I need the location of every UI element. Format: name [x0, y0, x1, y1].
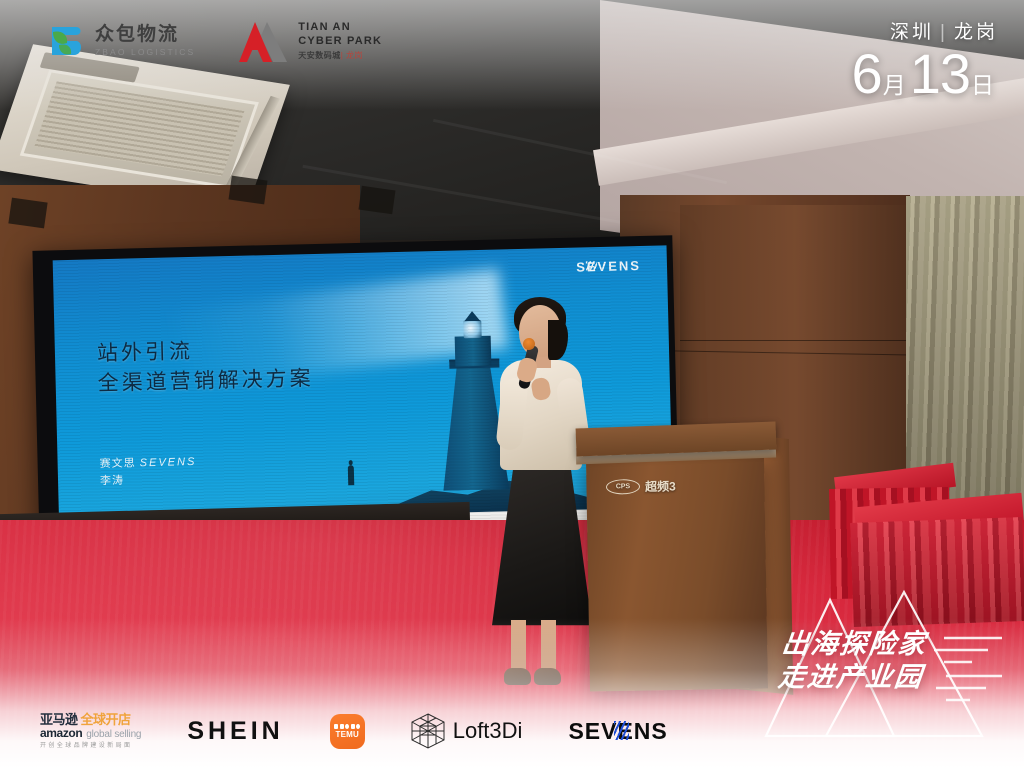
- amazon-cn-orange: 全球开店: [81, 713, 131, 726]
- tian-an-icon-svg: [239, 20, 289, 62]
- zbao-name-cn: 众包物流: [95, 25, 195, 45]
- zbao-logistics-logo: 众包物流 ZBAO LOGISTICS: [46, 21, 195, 61]
- temu-glyph: [334, 724, 338, 729]
- event-district: 龙岗: [954, 22, 998, 43]
- temu-glyph: [345, 724, 349, 729]
- amazon-cn-row: 亚马逊 全球开店: [40, 713, 131, 726]
- amazon-subtitle: 开创全球品牌建设新局面: [40, 743, 132, 749]
- temu-glyph: [356, 724, 360, 729]
- graphic-overlay: 众包物流 ZBAO LOGISTICS TIAN AN CYBER PARK: [0, 0, 1024, 768]
- event-day-unit: 日: [971, 66, 994, 100]
- sponsor-temu: TEMU: [330, 714, 365, 749]
- tian-an-name-en: TIAN AN CYBER PARK: [298, 21, 382, 49]
- temu-glyph-row: [334, 724, 360, 729]
- zbao-name-en: ZBAO LOGISTICS: [95, 47, 195, 57]
- tian-an-cyber-park-logo: TIAN AN CYBER PARK 天安数码城| 龙岗: [239, 20, 382, 62]
- tian-an-en-line2: CYBER PARK: [298, 35, 382, 49]
- tian-an-district: | 龙岗: [341, 51, 363, 60]
- tian-an-en-line1: TIAN AN: [298, 21, 382, 35]
- sevens-slash-icon: [614, 721, 629, 740]
- temu-glyph: [340, 724, 344, 729]
- event-date: 6 月 13 日: [852, 47, 998, 100]
- tian-an-text: TIAN AN CYBER PARK 天安数码城| 龙岗: [298, 21, 382, 62]
- badge-slogan: 出海探险家 走进产业园: [777, 628, 929, 694]
- partner-logo-bar: 众包物流 ZBAO LOGISTICS TIAN AN CYBER PARK: [46, 20, 382, 62]
- amazon-en-dark: amazon: [40, 727, 82, 739]
- location-divider: |: [940, 22, 948, 43]
- event-photo-overlay: SEVENS 站外引流 全渠道营销解决方案 赛文思 SEVENS 李涛 YOUR…: [0, 0, 1024, 768]
- event-day-number: 13: [910, 47, 970, 100]
- sponsor-amazon-global-selling: 亚马逊 全球开店 amazon global selling 开创全球品牌建设新…: [40, 713, 141, 749]
- sponsor-sevens: SEVENS: [568, 718, 667, 745]
- event-month-number: 6: [852, 47, 882, 100]
- sponsor-logo-strip: 亚马逊 全球开店 amazon global selling 开创全球品牌建设新…: [0, 708, 1024, 754]
- amazon-cn-dark: 亚马逊: [40, 713, 78, 726]
- wireframe-cube-icon: [411, 713, 445, 749]
- event-city: 深圳: [890, 22, 934, 43]
- zbao-text: 众包物流 ZBAO LOGISTICS: [95, 25, 195, 57]
- loft3di-label: Loft3Di: [453, 718, 523, 744]
- badge-slogan-line-1: 出海探险家: [780, 628, 928, 661]
- sponsor-shein: SHEIN: [187, 717, 283, 746]
- zbao-icon-svg: [46, 21, 86, 61]
- tian-an-mark-icon: [239, 20, 289, 62]
- zbao-mark-icon: [46, 21, 86, 61]
- event-date-block: 深圳|龙岗 6 月 13 日: [852, 22, 998, 100]
- tian-an-name-cn: 天安数码城| 龙岗: [298, 50, 382, 61]
- amazon-en-gray: global selling: [86, 730, 141, 740]
- amazon-en-row: amazon global selling: [40, 727, 141, 740]
- event-month-unit: 月: [883, 66, 906, 100]
- temu-glyph: [351, 724, 355, 729]
- badge-slogan-line-2: 走进产业园: [777, 661, 925, 694]
- temu-label: TEMU: [335, 730, 358, 739]
- sponsor-loft3di: Loft3Di: [411, 713, 523, 749]
